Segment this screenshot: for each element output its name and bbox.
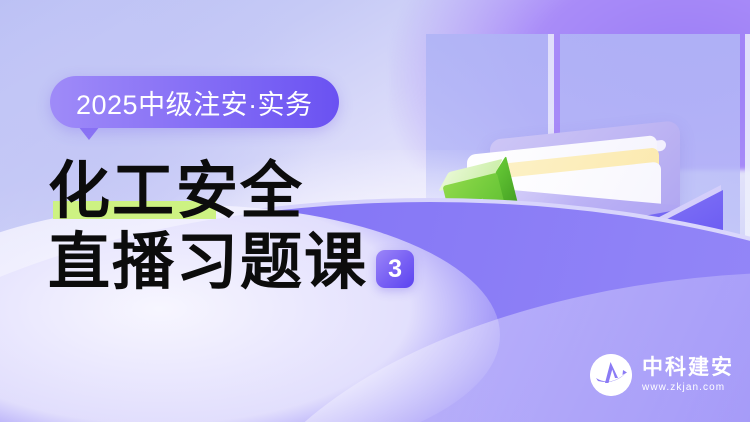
brand-logo[interactable]: 中科建安 www.zkjan.com bbox=[590, 354, 734, 396]
brand-url: www.zkjan.com bbox=[642, 383, 734, 393]
course-category-label: 2025中级注安·实务 bbox=[76, 83, 313, 122]
course-banner: 2025中级注安·实务 化工安全 直播习题课 3 中科建安 www.zkjan.… bbox=[0, 0, 750, 422]
episode-number-label: 3 bbox=[388, 255, 402, 284]
course-category-badge: 2025中级注安·实务 bbox=[50, 76, 339, 128]
course-title-secondary: 直播习题课 bbox=[48, 231, 368, 296]
title-line-1: 化工安全 bbox=[48, 160, 414, 225]
title-line-2: 直播习题课 3 bbox=[48, 231, 414, 296]
course-title-primary: 化工安全 bbox=[48, 160, 304, 225]
brand-logo-text: 中科建安 www.zkjan.com bbox=[642, 357, 734, 393]
zkjan-person-swoosh-icon bbox=[590, 354, 632, 396]
brand-name: 中科建安 bbox=[642, 357, 734, 378]
title-block: 化工安全 直播习题课 3 bbox=[48, 160, 414, 296]
episode-number-badge: 3 bbox=[376, 250, 414, 288]
badge-tail bbox=[78, 126, 100, 140]
